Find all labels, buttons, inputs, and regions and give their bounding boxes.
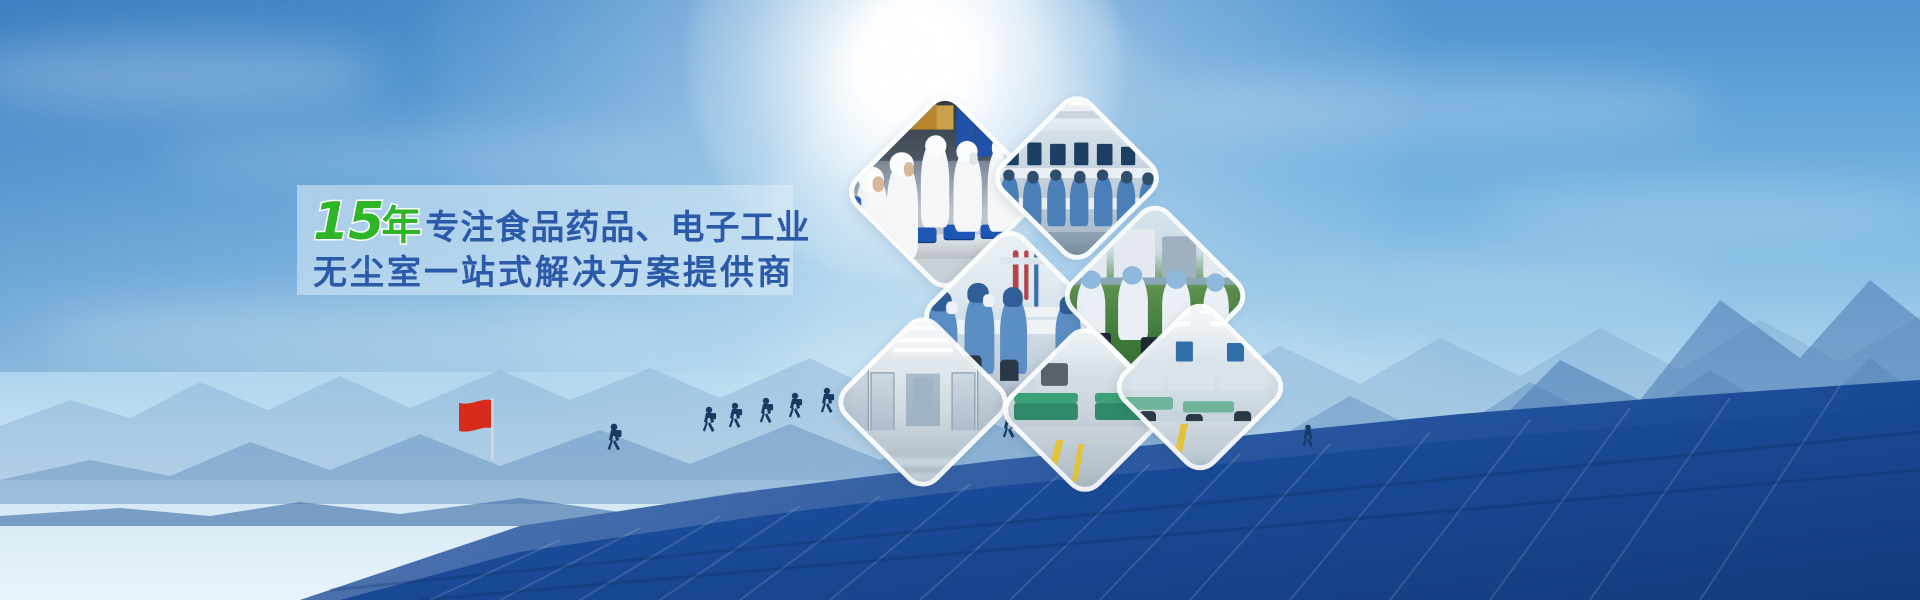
red-flag-icon xyxy=(455,398,511,460)
photo-collage xyxy=(840,95,1290,485)
climber-icon xyxy=(604,423,624,453)
climber-icon xyxy=(700,406,718,434)
climber-icon xyxy=(726,402,744,430)
headline-line-2: 无尘室一站式解决方案提供商 xyxy=(313,256,783,290)
climber-icon xyxy=(786,392,804,420)
climber-icon xyxy=(1300,424,1316,449)
climber-icon xyxy=(818,387,836,415)
hero-banner: 15 年 专注食品药品、电子工业 无尘室一站式解决方案提供商 xyxy=(0,0,1920,600)
headline-line-1: 15 年 专注食品药品、电子工业 xyxy=(313,196,783,248)
years-number: 15 xyxy=(313,196,383,248)
headline-block: 15 年 专注食品药品、电子工业 无尘室一站式解决方案提供商 xyxy=(313,196,783,290)
years-unit: 年 xyxy=(381,206,421,246)
headline-line-1-rest: 专注食品药品、电子工业 xyxy=(425,211,810,245)
cloud xyxy=(160,130,680,182)
climber-icon xyxy=(757,397,775,425)
cloud xyxy=(1480,180,1920,238)
